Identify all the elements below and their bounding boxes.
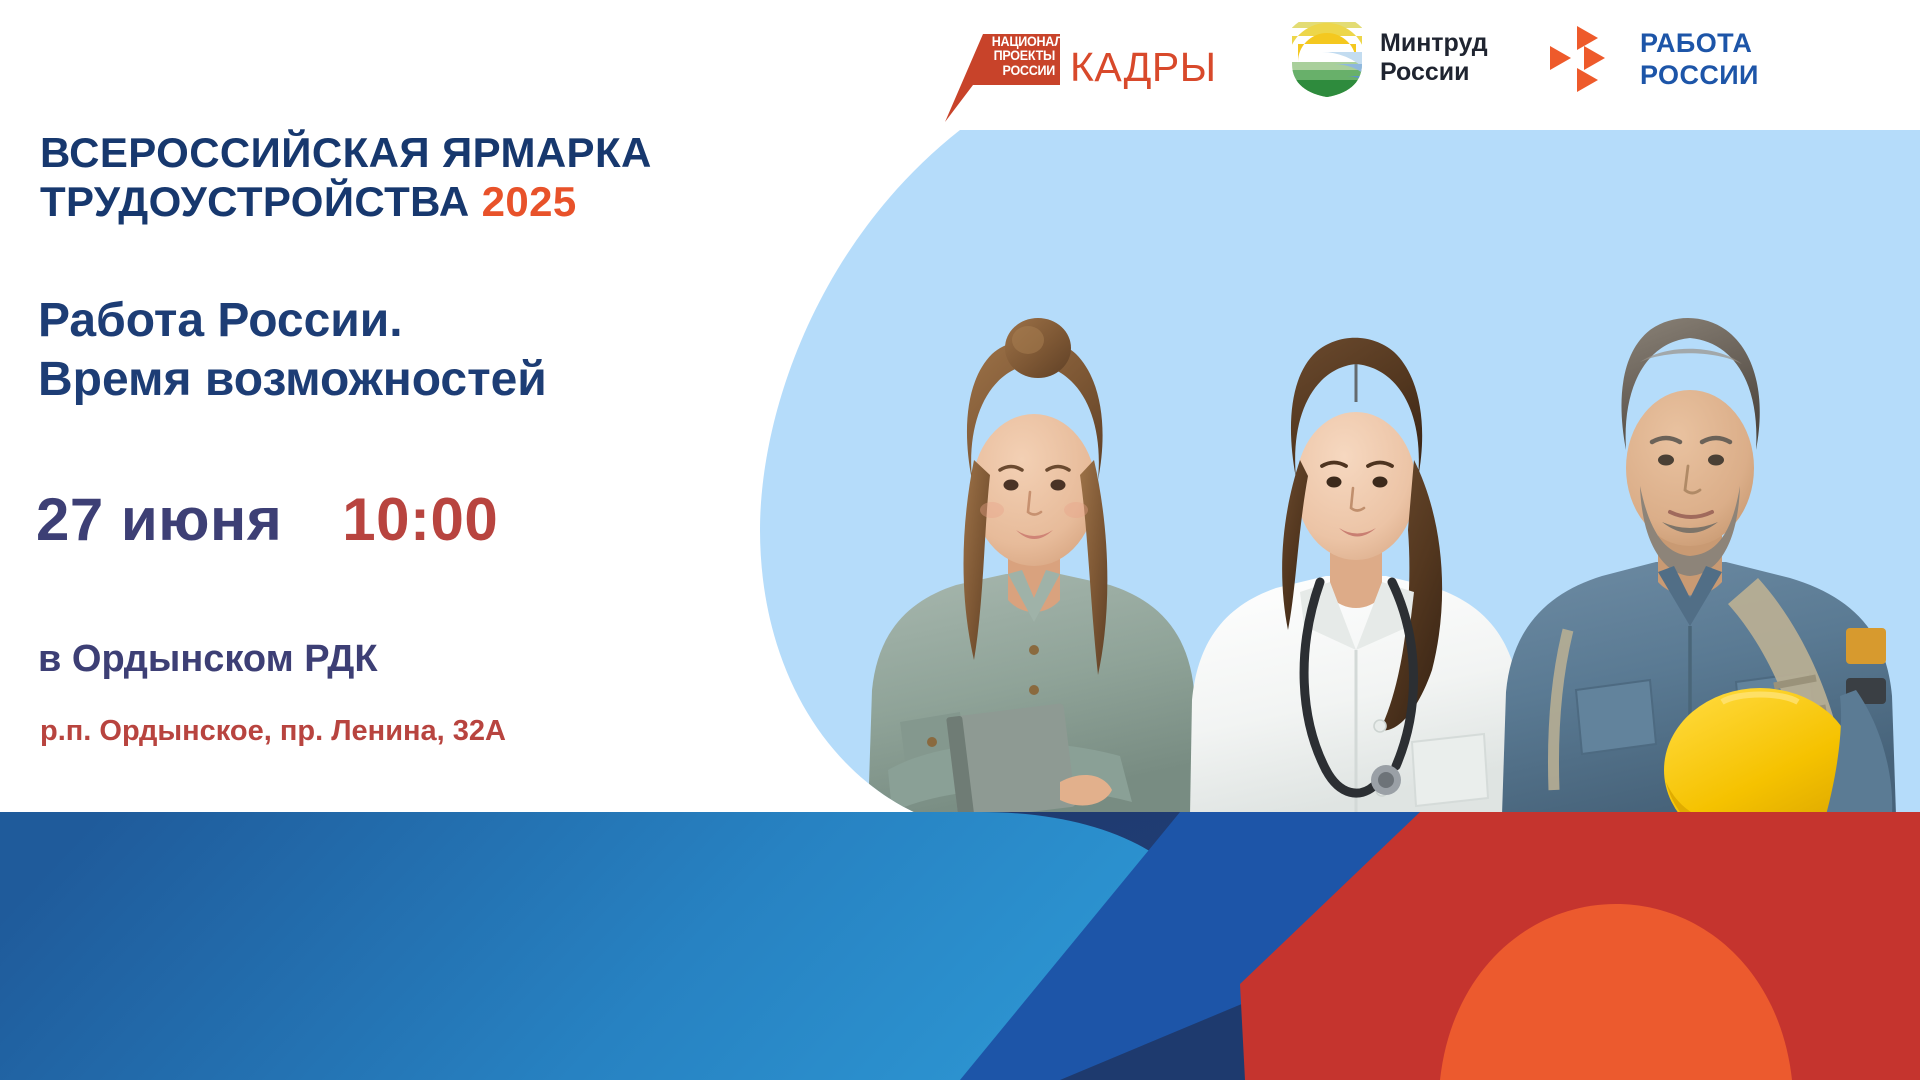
kadry-label: КАДРЫ: [1070, 44, 1217, 91]
logo-mintrud[interactable]: Минтруд России: [1288, 18, 1488, 98]
mintrud-label-line1: Минтруд: [1380, 29, 1488, 59]
headline-line-2: ТРУДОУСТРОЙСТВА 2025: [40, 177, 760, 226]
event-address: р.п. Ордынское, пр. Ленина, 32А: [40, 715, 506, 748]
poster-root: НАЦИОНАЛЬНЫЕ ПРОЕКТЫ РОССИИ КАДРЫ: [0, 0, 1920, 1080]
subtitle-line-1: Работа России.: [38, 292, 758, 351]
national-projects-mark: НАЦИОНАЛЬНЫЕ ПРОЕКТЫ РОССИИ: [945, 22, 1060, 122]
headline-line-1: ВСЕРОССИЙСКАЯ ЯРМАРКА: [40, 128, 760, 177]
subtitle: Работа России. Время возможностей: [38, 292, 758, 409]
event-time: 10:00: [342, 485, 498, 554]
event-date: 27 июня: [36, 485, 282, 554]
logo-bar: НАЦИОНАЛЬНЫЕ ПРОЕКТЫ РОССИИ КАДРЫ: [0, 0, 1920, 130]
headline-line-2-text: ТРУДОУСТРОЙСТВА: [40, 178, 470, 225]
np-line-3: РОССИИ: [992, 64, 1055, 78]
mintrud-label-line2: России: [1380, 58, 1488, 88]
mintrud-shield-icon: [1288, 18, 1366, 98]
rabota-label-line2: РОССИИ: [1640, 60, 1759, 92]
decorative-bottom-band: [0, 812, 1920, 1080]
rabota-rossii-triangles-icon: [1548, 24, 1624, 96]
event-datetime: 27 июня 10:00: [36, 485, 498, 554]
subtitle-line-2: Время возможностей: [38, 351, 758, 410]
logo-rabota-rossii[interactable]: РАБОТА РОССИИ: [1548, 24, 1759, 96]
mintrud-label: Минтруд России: [1380, 29, 1488, 88]
np-line-1: НАЦИОНАЛЬНЫЕ: [992, 35, 1055, 49]
rabota-label-line1: РАБОТА: [1640, 28, 1759, 60]
event-venue: в Ордынском РДК: [38, 638, 378, 681]
national-projects-wordmark: НАЦИОНАЛЬНЫЕ ПРОЕКТЫ РОССИИ: [987, 35, 1055, 78]
bottom-band-graphic: [0, 812, 1920, 1080]
three-professionals-photo: [760, 130, 1920, 815]
headline: ВСЕРОССИЙСКАЯ ЯРМАРКА ТРУДОУСТРОЙСТВА 20…: [40, 128, 760, 226]
logo-national-projects[interactable]: НАЦИОНАЛЬНЫЕ ПРОЕКТЫ РОССИИ КАДРЫ: [945, 22, 1217, 122]
photo-illustration: [760, 130, 1920, 815]
rabota-rossii-label: РАБОТА РОССИИ: [1640, 28, 1759, 92]
np-line-2: ПРОЕКТЫ: [992, 49, 1055, 63]
headline-year: 2025: [482, 178, 577, 225]
